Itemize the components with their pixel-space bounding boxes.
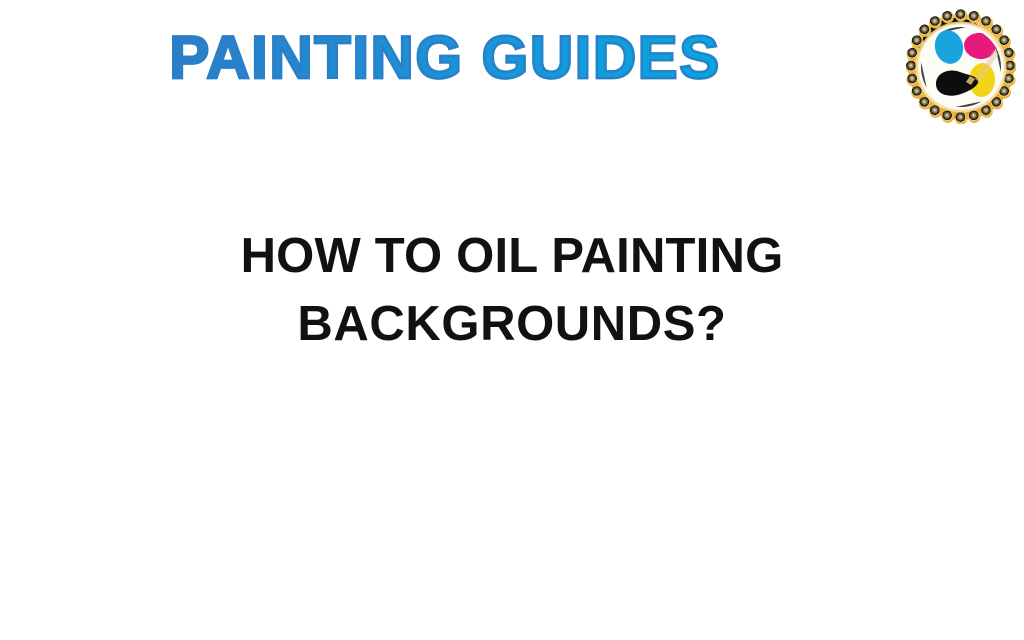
article-body-area (0, 380, 1024, 640)
page-title-line-1: HOW TO OIL PAINTING (0, 222, 1024, 290)
brand-logo-badge[interactable] (906, 6, 1016, 124)
page-root: PAINTING GUIDES (0, 0, 1024, 640)
palette-badge-icon (906, 6, 1016, 124)
brand-wordmark: PAINTING GUIDES (0, 26, 890, 90)
page-title: HOW TO OIL PAINTING BACKGROUNDS? (0, 222, 1024, 358)
page-title-line-2: BACKGROUNDS? (0, 290, 1024, 358)
brand-header: PAINTING GUIDES (0, 0, 1024, 130)
